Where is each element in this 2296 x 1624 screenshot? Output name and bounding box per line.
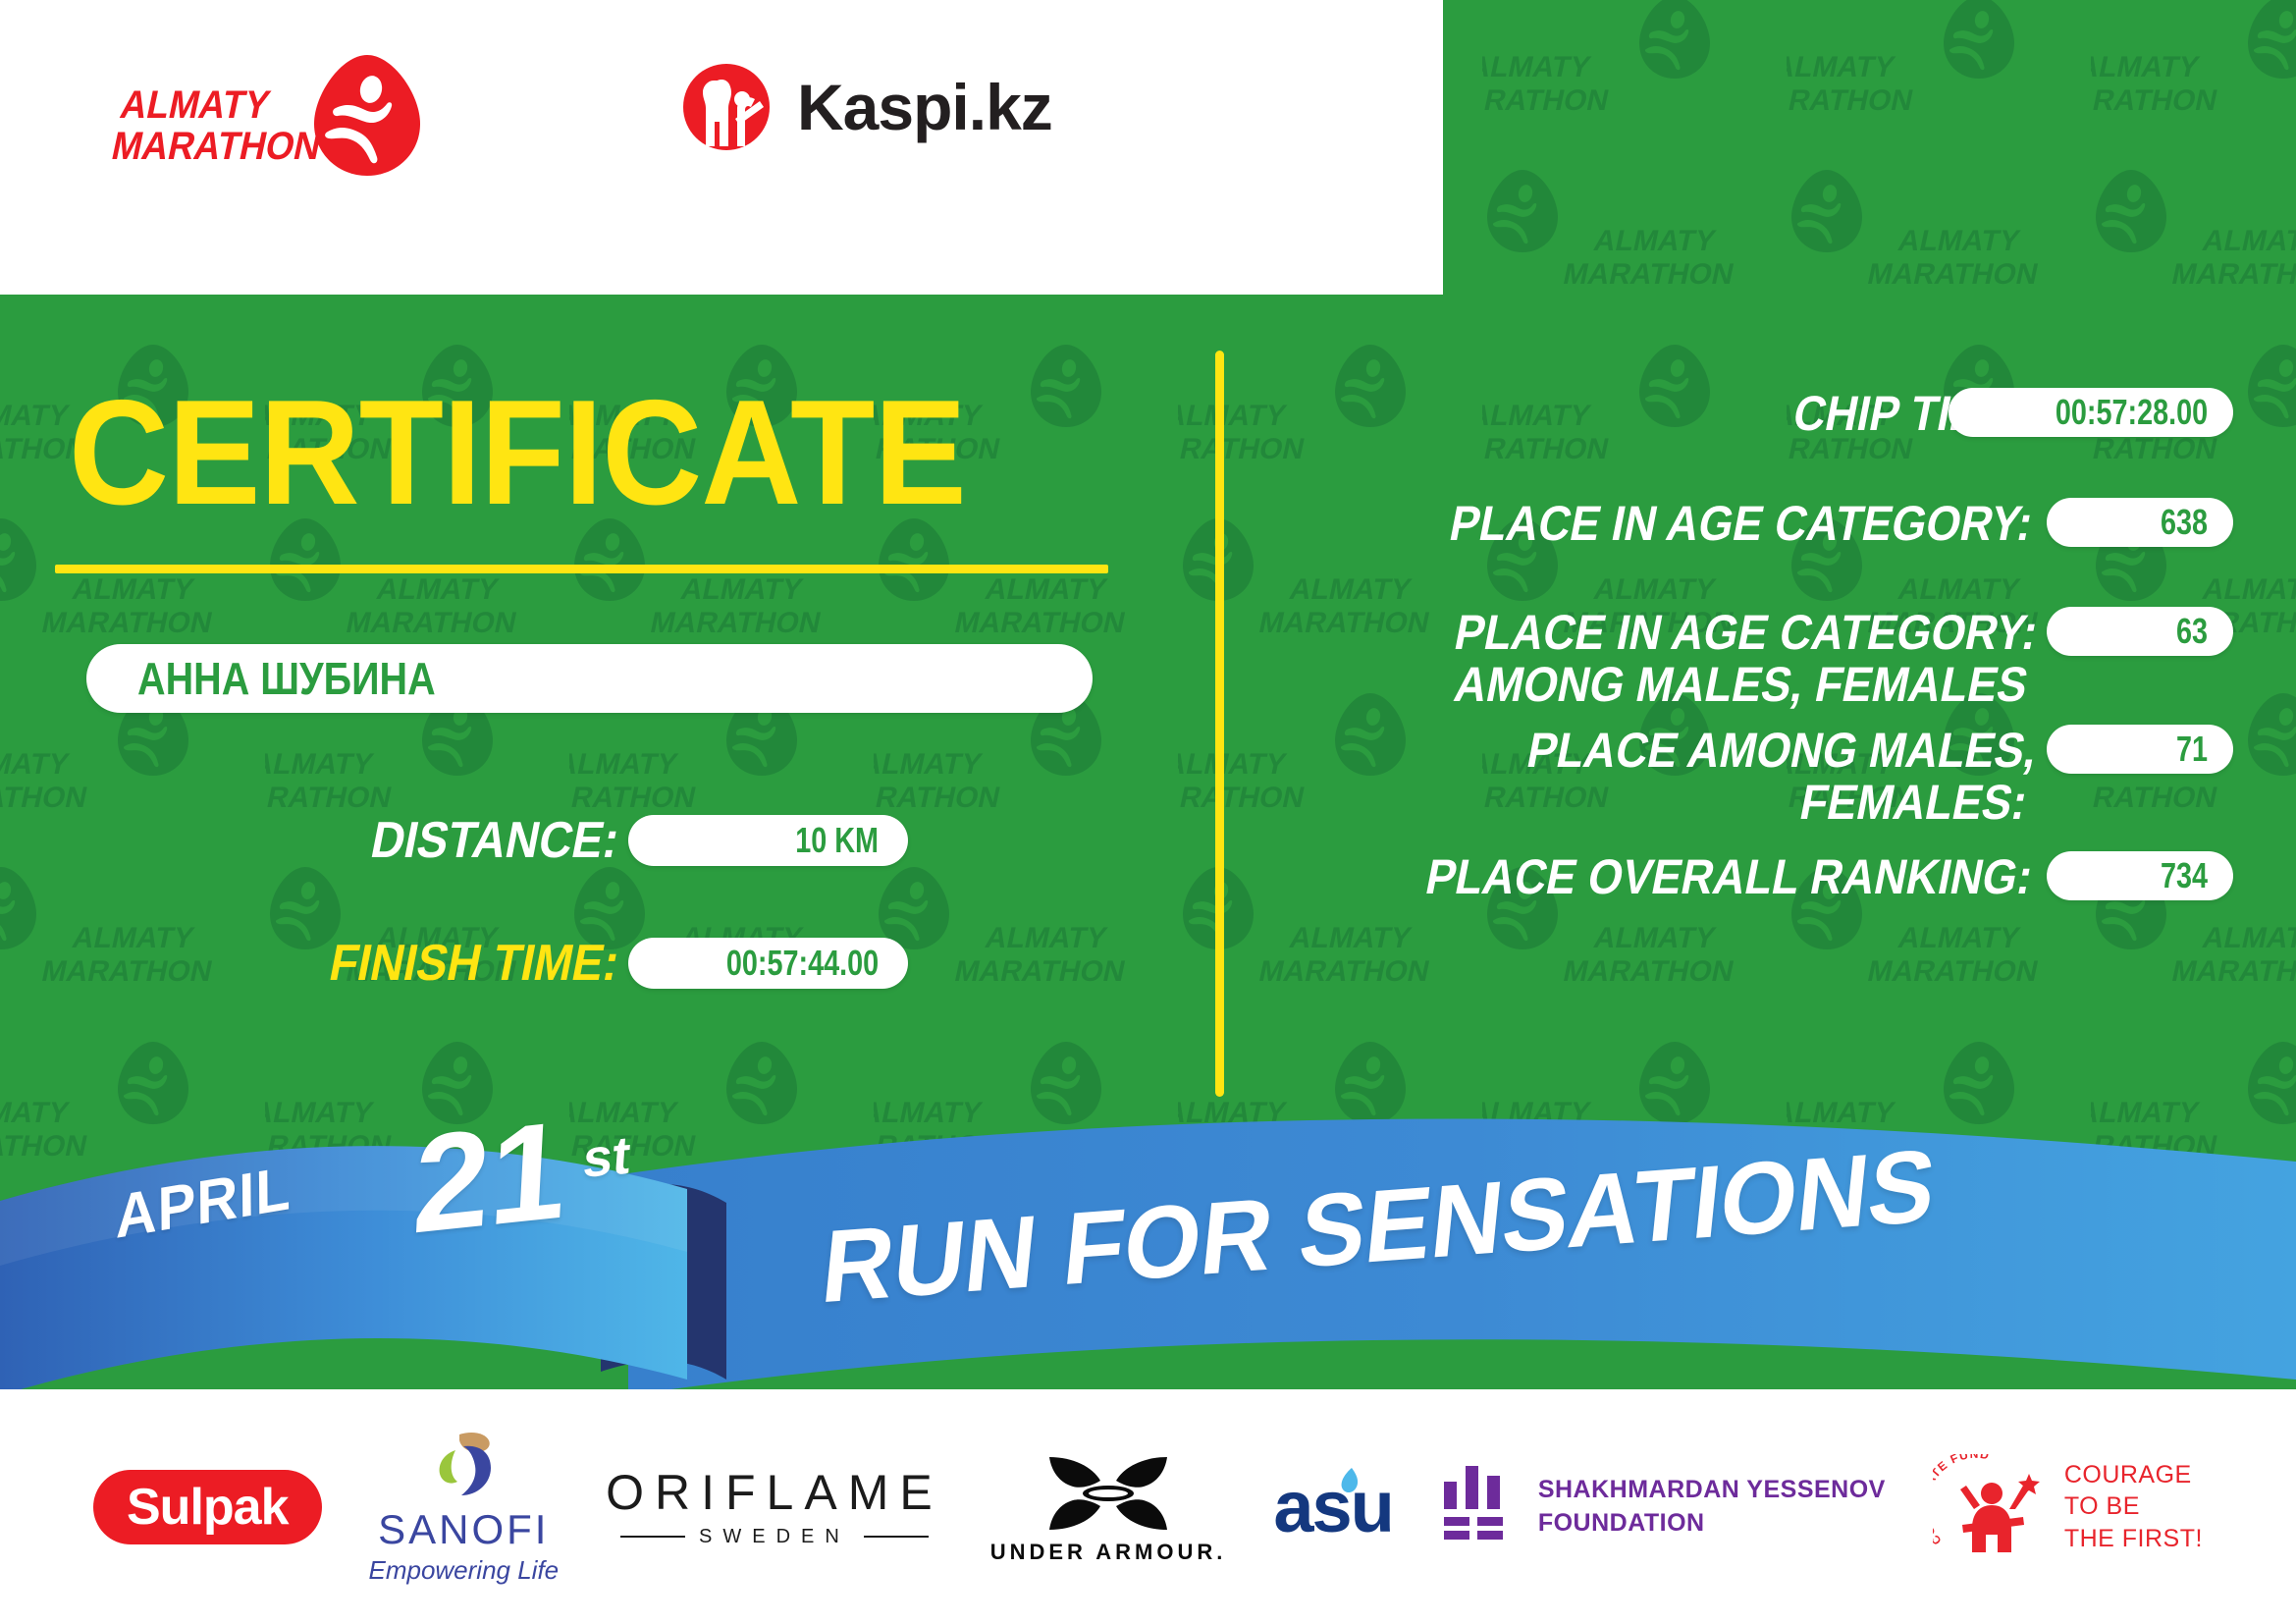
sponsor-under-armour: UNDER ARMOUR. bbox=[990, 1451, 1227, 1563]
sponsor-asu: asu bbox=[1273, 1471, 1393, 1543]
finish-time-value: 00:57:44.00 bbox=[726, 943, 879, 984]
chip-time-value: 00:57:28.00 bbox=[2056, 392, 2208, 433]
distance-value-pill: 10 KM bbox=[628, 815, 908, 866]
ribbon-day-suffix: st bbox=[581, 1124, 632, 1190]
sponsor-sanofi: SANOFI Empowering Life bbox=[368, 1431, 559, 1583]
page-title: CERTIFICATE bbox=[69, 378, 966, 527]
asu-droplet-icon bbox=[1336, 1467, 1362, 1500]
courage-line1: COURAGE bbox=[2064, 1459, 2203, 1491]
oriflame-wordmark: ORIFLAME bbox=[606, 1468, 943, 1517]
finish-time-value-pill: 00:57:44.00 bbox=[628, 938, 908, 989]
ribbon-day: 21 bbox=[410, 1100, 569, 1255]
place-age-category-gender-label: PLACE IN AGE CATEGORY: AMONG MALES, FEMA… bbox=[1256, 607, 2032, 710]
almaty-marathon-logo: ALMATY MARATHON bbox=[126, 47, 440, 189]
vertical-divider bbox=[1215, 351, 1224, 1097]
place-age-category-label: PLACE IN AGE CATEGORY: bbox=[1256, 498, 2032, 550]
courage-line3: THE FIRST! bbox=[2064, 1523, 2203, 1555]
yessenov-mark-icon bbox=[1440, 1464, 1517, 1550]
chip-time-value-pill: 00:57:28.00 bbox=[1949, 388, 2233, 437]
kaspi-logo: Kaspi.kz bbox=[681, 62, 1052, 152]
sponsor-sulpak: Sulpak bbox=[93, 1470, 322, 1544]
asu-wordmark: asu bbox=[1273, 1471, 1393, 1543]
place-age-category-gender-value: 63 bbox=[2176, 611, 2208, 652]
results-column: CHIP TIME: 00:57:28.00 PLACE IN AGE CATE… bbox=[1256, 280, 2296, 1164]
distance-label: DISTANCE: bbox=[367, 815, 623, 866]
sulpak-wordmark: Sulpak bbox=[93, 1470, 322, 1544]
sanofi-bird-icon bbox=[416, 1431, 510, 1503]
yessenov-line1: SHAKHMARDAN YESSENOV bbox=[1538, 1474, 1886, 1507]
title-underline bbox=[55, 565, 1108, 573]
athlete-name-value: АННА ШУБИНА bbox=[137, 652, 436, 705]
yessenov-line2: FOUNDATION bbox=[1538, 1507, 1886, 1541]
sanofi-wordmark: SANOFI bbox=[368, 1509, 559, 1550]
place-overall-label: PLACE OVERALL RANKING: bbox=[1256, 851, 2032, 903]
sponsor-bar: Sulpak SANOFI Empowering Life ORIFLAME S… bbox=[0, 1389, 2296, 1624]
sanofi-tagline: Empowering Life bbox=[368, 1557, 559, 1583]
place-age-category-gender-value-pill: 63 bbox=[2047, 607, 2233, 656]
under-armour-wordmark: UNDER ARMOUR. bbox=[990, 1542, 1227, 1563]
certificate-page: ALMATY MARATHON Kaspi.kz CERTIFICATE АНН… bbox=[0, 0, 2296, 1624]
logo-text-almaty: ALMATY bbox=[117, 84, 334, 126]
oriflame-sub: SWEDEN bbox=[699, 1527, 850, 1546]
athlete-name-field: АННА ШУБИНА bbox=[86, 644, 1093, 713]
place-among-gender-value: 71 bbox=[2176, 729, 2208, 770]
finish-time-label: FINISH TIME: bbox=[325, 938, 623, 989]
place-overall-value-pill: 734 bbox=[2047, 851, 2233, 900]
sponsor-yessenov-foundation: SHAKHMARDAN YESSENOV FOUNDATION bbox=[1440, 1464, 1886, 1550]
place-among-gender-value-pill: 71 bbox=[2047, 725, 2233, 774]
left-column: CERTIFICATE АННА ШУБИНА DISTANCE: 10 KM … bbox=[0, 280, 1193, 1164]
sponsor-courage-to-be-the-first: CORPORATE FUND COURAGE TO BE THE FIRST! bbox=[1933, 1454, 2203, 1560]
under-armour-icon bbox=[1043, 1451, 1173, 1536]
courage-figure-icon: CORPORATE FUND bbox=[1933, 1454, 2049, 1560]
distance-value: 10 KM bbox=[795, 820, 879, 861]
place-overall-value: 734 bbox=[2161, 855, 2208, 896]
chip-time-label: CHIP TIME: bbox=[1256, 388, 2032, 440]
kaspi-wordmark: Kaspi.kz bbox=[797, 75, 1052, 139]
logo-text-marathon: MARATHON bbox=[108, 126, 325, 167]
place-among-gender-label: PLACE AMONG MALES, FEMALES: bbox=[1256, 725, 2032, 828]
place-age-category-value-pill: 638 bbox=[2047, 498, 2233, 547]
sponsor-oriflame: ORIFLAME SWEDEN bbox=[606, 1468, 943, 1546]
place-age-category-value: 638 bbox=[2161, 502, 2208, 543]
courage-line2: TO BE bbox=[2064, 1490, 2203, 1523]
kaspi-circle-icon bbox=[681, 62, 772, 152]
